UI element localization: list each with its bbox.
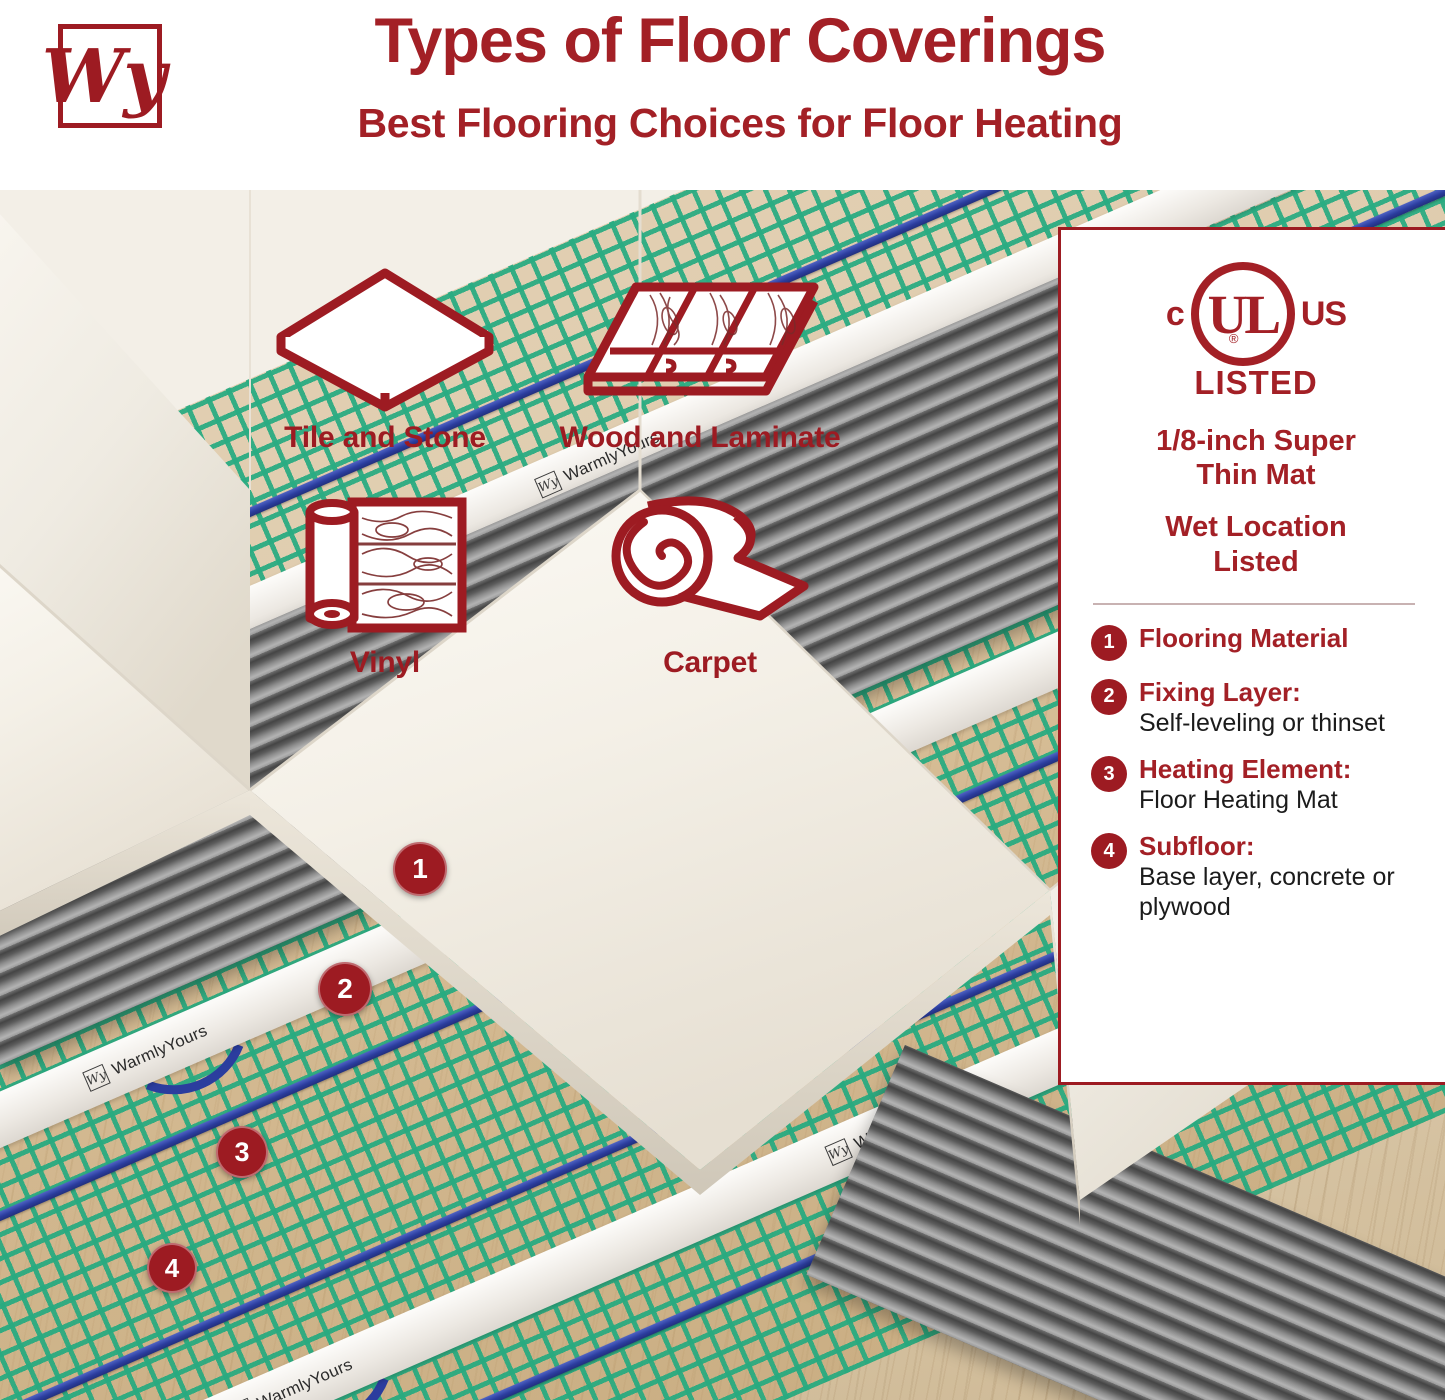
page-title: Types of Floor Coverings [300, 8, 1180, 74]
ul-listed-label: LISTED [1194, 364, 1317, 402]
tile-slab-icon [235, 265, 535, 415]
claim-line-4: Listed [1091, 545, 1421, 579]
photo-marker-4: 4 [147, 1243, 197, 1293]
covering-label: Wood and Laminate [535, 421, 865, 455]
photo-marker-2: 2 [318, 962, 372, 1016]
photo-marker-3: 3 [216, 1126, 268, 1178]
wood-plank-icon [535, 265, 865, 415]
brand-logo: Wy [44, 18, 164, 140]
ul-mark-row: c UL ® US [1166, 262, 1346, 366]
carpet-roll-icon [545, 490, 875, 640]
legend-sub-4: Base layer, concrete or plywood [1139, 863, 1395, 921]
registered-mark-icon: ® [1229, 331, 1239, 346]
info-panel: c UL ® US LISTED 1/8-inch Super Thin Mat… [1058, 227, 1445, 1085]
legend-item-1: 1 Flooring Material [1091, 623, 1421, 661]
legend-text-4: Subfloor: Base layer, concrete or plywoo… [1139, 831, 1421, 922]
claim-line-1: 1/8-inch Super [1091, 424, 1421, 458]
legend-head-2: Fixing Layer: [1139, 677, 1301, 707]
floor-coverings-grid: Tile and Stone [215, 265, 915, 735]
vinyl-roll-icon [235, 490, 535, 640]
panel-claim-thin-mat: 1/8-inch Super Thin Mat [1091, 424, 1421, 492]
covering-label: Carpet [545, 646, 875, 680]
legend-badge-2: 2 [1091, 679, 1127, 715]
photo-marker-1: 1 [393, 842, 447, 896]
ul-prefix-c: c [1166, 295, 1185, 334]
warmlyyours-monogram-icon: Wy [44, 14, 164, 140]
covering-item-wood-and-laminate: Wood and Laminate [535, 265, 865, 455]
panel-divider [1093, 603, 1415, 605]
covering-item-carpet: Carpet [545, 490, 875, 680]
legend-item-4: 4 Subfloor: Base layer, concrete or plyw… [1091, 831, 1421, 922]
claim-line-2: Thin Mat [1091, 458, 1421, 492]
covering-item-vinyl: Vinyl [235, 490, 535, 680]
legend-head-3: Heating Element: [1139, 754, 1351, 784]
legend-head-4: Subfloor: [1139, 831, 1255, 861]
legend-badge-1: 1 [1091, 625, 1127, 661]
panel-claim-wet-location: Wet Location Listed [1091, 510, 1421, 578]
page-subtitle: Best Flooring Choices for Floor Heating [300, 100, 1180, 147]
legend-item-3: 3 Heating Element: Floor Heating Mat [1091, 754, 1421, 815]
legend-text-3: Heating Element: Floor Heating Mat [1139, 754, 1351, 815]
legend-head-1: Flooring Material [1139, 623, 1348, 653]
covering-item-tile-and-stone: Tile and Stone [235, 265, 535, 455]
header: Wy Types of Floor Coverings Best Floorin… [0, 0, 1445, 190]
legend-text-2: Fixing Layer: Self-leveling or thinset [1139, 677, 1385, 738]
ul-suffix-us: US [1301, 295, 1346, 334]
covering-label: Tile and Stone [235, 421, 535, 455]
ul-circle: UL ® [1191, 262, 1295, 366]
covering-label: Vinyl [235, 646, 535, 680]
legend-badge-4: 4 [1091, 833, 1127, 869]
infographic-canvas: Wy WarmlyYours Wy WarmlyYours Wy WarmlyY… [0, 0, 1445, 1400]
ul-letters: UL [1208, 287, 1278, 342]
claim-line-3: Wet Location [1091, 510, 1421, 544]
legend-badge-3: 3 [1091, 756, 1127, 792]
legend-sub-2: Self-leveling or thinset [1139, 709, 1385, 737]
legend-item-2: 2 Fixing Layer: Self-leveling or thinset [1091, 677, 1421, 738]
legend-text-1: Flooring Material [1139, 623, 1348, 654]
cul-us-listed-icon: c UL ® US LISTED [1091, 262, 1421, 402]
legend-sub-3: Floor Heating Mat [1139, 786, 1338, 814]
